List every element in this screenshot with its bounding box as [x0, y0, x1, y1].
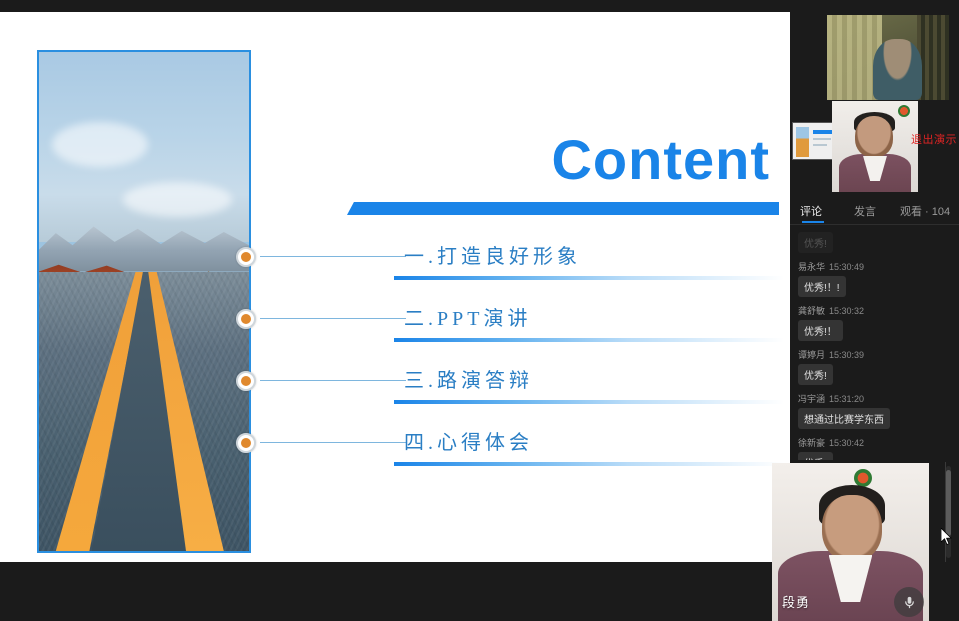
- comment-meta: 徐新豪15:30:42: [798, 436, 951, 449]
- comment-text: 优秀!！: [798, 320, 843, 341]
- comment-author: 龚舒敏: [798, 306, 825, 316]
- content-item-3[interactable]: 三.路演答辩: [236, 358, 784, 420]
- panel-scrollbar-thumb[interactable]: [946, 470, 951, 536]
- comment-author: 冯宇涵: [798, 394, 825, 404]
- comment-meta: 冯宇涵15:31:20: [798, 392, 951, 405]
- connector-line: [260, 256, 406, 257]
- comment-meta: 易永华15:30:49: [798, 260, 951, 273]
- comment-time: 15:31:20: [829, 394, 864, 404]
- content-item-label: 二.PPT演讲: [404, 302, 531, 331]
- photo-cloud: [123, 182, 232, 217]
- self-video-name-label: 段勇: [782, 592, 810, 611]
- bullet-dot-icon: [236, 247, 256, 267]
- content-item-2[interactable]: 二.PPT演讲: [236, 296, 784, 358]
- bullet-dot-icon: [236, 309, 256, 329]
- content-item-label: 四.心得体会: [404, 426, 533, 455]
- comment-text: 优秀!: [798, 232, 833, 253]
- connector-line: [260, 442, 406, 443]
- comment-item: 冯宇涵15:31:20 想通过比赛学东西: [790, 392, 959, 429]
- presenter-video[interactable]: [832, 101, 918, 192]
- content-list: 一.打造良好形象 二.PPT演讲 三.路演答辩 四.心得体会: [236, 234, 784, 482]
- mouse-cursor: [941, 528, 953, 546]
- comment-text: 想通过比赛学东西: [798, 408, 890, 429]
- comment-author: 易永华: [798, 262, 825, 272]
- title-underline-bar: [347, 202, 779, 215]
- content-item-1[interactable]: 一.打造良好形象: [236, 234, 784, 296]
- comment-meta: 谭婷月15:30:39: [798, 348, 951, 361]
- comment-item: 易永华15:30:49 优秀!！!: [790, 260, 959, 297]
- comment-item: 龚舒敏15:30:32 优秀!！: [790, 304, 959, 341]
- connector-line: [260, 380, 406, 381]
- comment-time: 15:30:39: [829, 350, 864, 360]
- video-plant-decor: [898, 105, 910, 117]
- presentation-slide[interactable]: Content 一.打造良好形象 二.PPT演讲 三.路演答辩: [0, 12, 791, 562]
- video-bookshelf-bg: [917, 15, 949, 100]
- content-item-underline: [394, 462, 784, 466]
- comment-text: 优秀!: [798, 364, 833, 385]
- tab-comments[interactable]: 评论: [800, 203, 822, 219]
- content-item-label: 一.打造良好形象: [404, 240, 581, 269]
- comment-item: 谭婷月15:30:39 优秀!: [790, 348, 959, 385]
- comment-time: 15:30:32: [829, 306, 864, 316]
- content-item-underline: [394, 276, 784, 280]
- comment-list[interactable]: 张明阳15:30:11 优秀! 易永华15:30:49 优秀!！! 龚舒敏15:…: [790, 228, 959, 460]
- comment-meta: 张明阳15:30:11: [798, 228, 951, 229]
- self-video-head: [822, 495, 882, 561]
- panel-tabs: 评论 发言 观看 · 104: [790, 199, 959, 225]
- bullet-dot-icon: [236, 371, 256, 391]
- comment-time: 15:30:49: [829, 262, 864, 272]
- comment-meta: 龚舒敏15:30:32: [798, 304, 951, 317]
- content-item-underline: [394, 400, 784, 404]
- microphone-icon[interactable]: [894, 587, 924, 617]
- connector-line: [260, 318, 406, 319]
- tab-viewers[interactable]: 观看 · 104: [900, 203, 950, 219]
- content-item-4[interactable]: 四.心得体会: [236, 420, 784, 482]
- video-person-silhouette: [873, 39, 922, 100]
- slide-title: Content: [350, 132, 770, 188]
- content-item-underline: [394, 338, 784, 342]
- comment-item: 徐新豪15:30:42 优秀!: [790, 436, 959, 460]
- meeting-presentation-window: Content 一.打造良好形象 二.PPT演讲 三.路演答辩: [0, 0, 959, 621]
- active-tab-indicator: [802, 221, 824, 223]
- tab-speak[interactable]: 发言: [854, 203, 876, 219]
- content-item-label: 三.路演答辩: [404, 364, 533, 393]
- photo-cloud: [52, 122, 149, 167]
- comment-author: 谭婷月: [798, 350, 825, 360]
- comment-author: 徐新豪: [798, 438, 825, 448]
- participant-video-top[interactable]: [827, 15, 949, 100]
- bullet-dot-icon: [236, 433, 256, 453]
- comment-text: 优秀!: [798, 452, 833, 460]
- road-photo: [37, 50, 251, 553]
- video-person-head: [855, 116, 893, 158]
- comment-text: 优秀!！!: [798, 276, 846, 297]
- comment-item: 张明阳15:30:11 优秀!: [790, 228, 959, 253]
- exit-presentation-button[interactable]: 退出演示: [911, 131, 957, 147]
- comment-time: 15:30:42: [829, 438, 864, 448]
